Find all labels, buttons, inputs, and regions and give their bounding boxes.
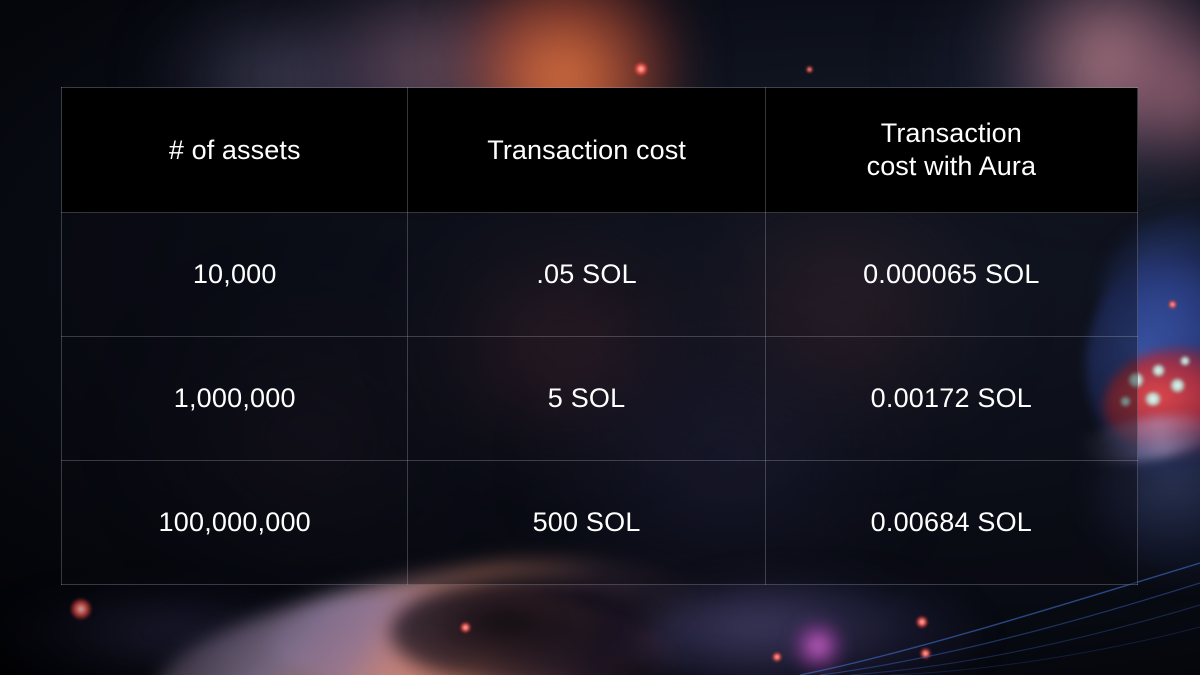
flower-stamen-4 (1144, 392, 1162, 406)
table-row: 10,000 .05 SOL 0.000065 SOL (62, 213, 1138, 337)
sparkle-dot-bottom-right-2 (920, 648, 931, 659)
sparkle-dot-top (634, 62, 648, 76)
bottom-petal-sweep-2 (267, 577, 694, 675)
cost-comparison-table: # of assets Transaction cost Transaction… (61, 87, 1138, 585)
cell-assets: 100,000,000 (62, 461, 408, 585)
table-body: 10,000 .05 SOL 0.000065 SOL 1,000,000 5 … (62, 213, 1138, 585)
cell-cost: .05 SOL (408, 213, 765, 337)
table-row: 1,000,000 5 SOL 0.00172 SOL (62, 337, 1138, 461)
column-header-transaction-cost: Transaction cost (408, 88, 765, 213)
column-header-transaction-cost-line-1: Transaction cost (414, 134, 758, 167)
column-header-transaction-cost-aura: Transaction cost with Aura (765, 88, 1137, 213)
sparkle-dot-top-2 (806, 66, 813, 73)
flower-stamen-6 (1180, 356, 1190, 366)
cell-cost-with-aura: 0.00172 SOL (765, 337, 1137, 461)
slide-canvas: # of assets Transaction cost Transaction… (0, 0, 1200, 675)
column-header-transaction-cost-aura-line-1: Transaction (772, 117, 1131, 150)
sparkle-dot-bottom-right (916, 616, 928, 628)
flower-stamen-2 (1152, 364, 1165, 377)
bottom-petal-dark-fold (390, 578, 650, 675)
cost-comparison-table-container: # of assets Transaction cost Transaction… (61, 87, 1138, 585)
table-row: 100,000,000 500 SOL 0.00684 SOL (62, 461, 1138, 585)
sparkle-dot-flower (1168, 300, 1177, 309)
table-header-row: # of assets Transaction cost Transaction… (62, 88, 1138, 213)
bottom-petal-left-dark (0, 596, 300, 675)
column-header-assets: # of assets (62, 88, 408, 213)
sparkle-dot-bottom-mid-2 (772, 652, 782, 662)
cell-assets: 1,000,000 (62, 337, 408, 461)
cell-cost-with-aura: 0.000065 SOL (765, 213, 1137, 337)
table-header: # of assets Transaction cost Transaction… (62, 88, 1138, 213)
cell-cost: 5 SOL (408, 337, 765, 461)
sparkle-dot-bottom-mid (460, 622, 471, 633)
flower-stamen-3 (1170, 378, 1185, 393)
column-header-transaction-cost-aura-line-2: cost with Aura (772, 150, 1131, 183)
cell-cost: 500 SOL (408, 461, 765, 585)
sparkle-dot-bottom-left (70, 598, 92, 620)
bottom-bokeh-magenta (790, 618, 846, 674)
cell-cost-with-aura: 0.00684 SOL (765, 461, 1137, 585)
bottom-petal-lavender (640, 580, 980, 675)
column-header-assets-line-1: # of assets (68, 134, 401, 167)
cell-assets: 10,000 (62, 213, 408, 337)
